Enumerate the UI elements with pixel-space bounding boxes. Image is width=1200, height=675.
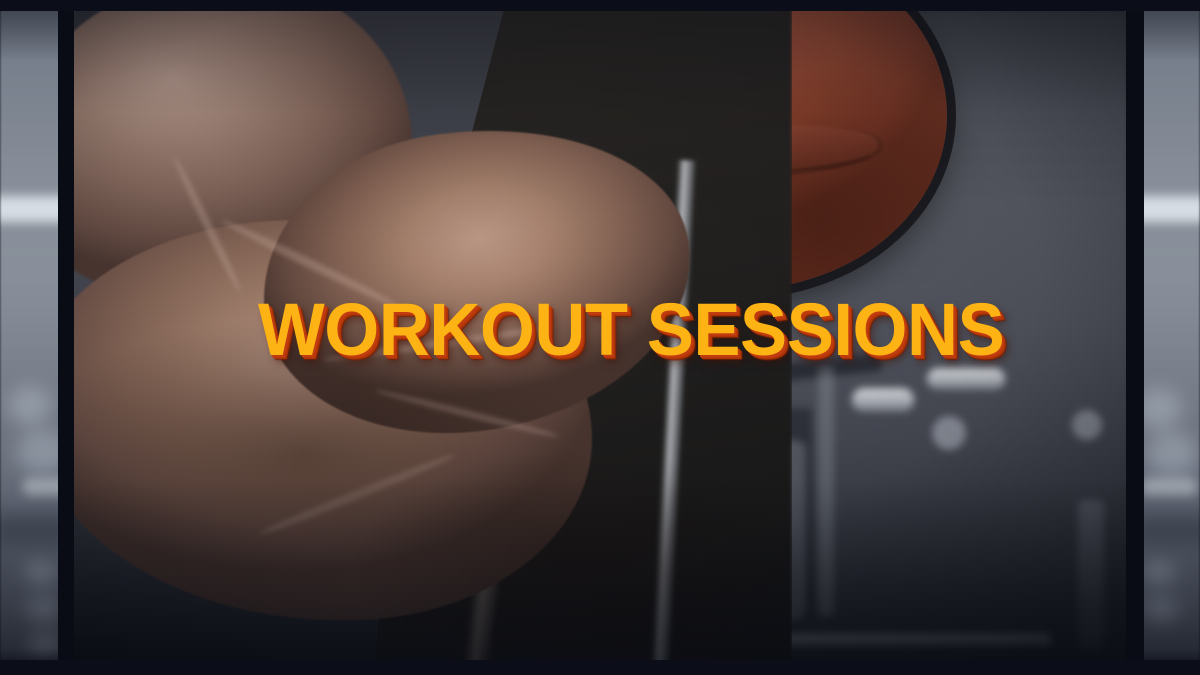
video-frame: 10 xyxy=(72,10,1128,662)
frame-border-left xyxy=(58,0,74,675)
frame-border-right xyxy=(1126,0,1144,675)
frame-border-top xyxy=(0,0,1200,11)
frame-border-bottom xyxy=(0,660,1200,675)
arm-shading xyxy=(72,10,1128,662)
arm xyxy=(72,10,1128,662)
screenshot-stage: 10 WORKOUT SESSIONS xyxy=(0,0,1200,675)
